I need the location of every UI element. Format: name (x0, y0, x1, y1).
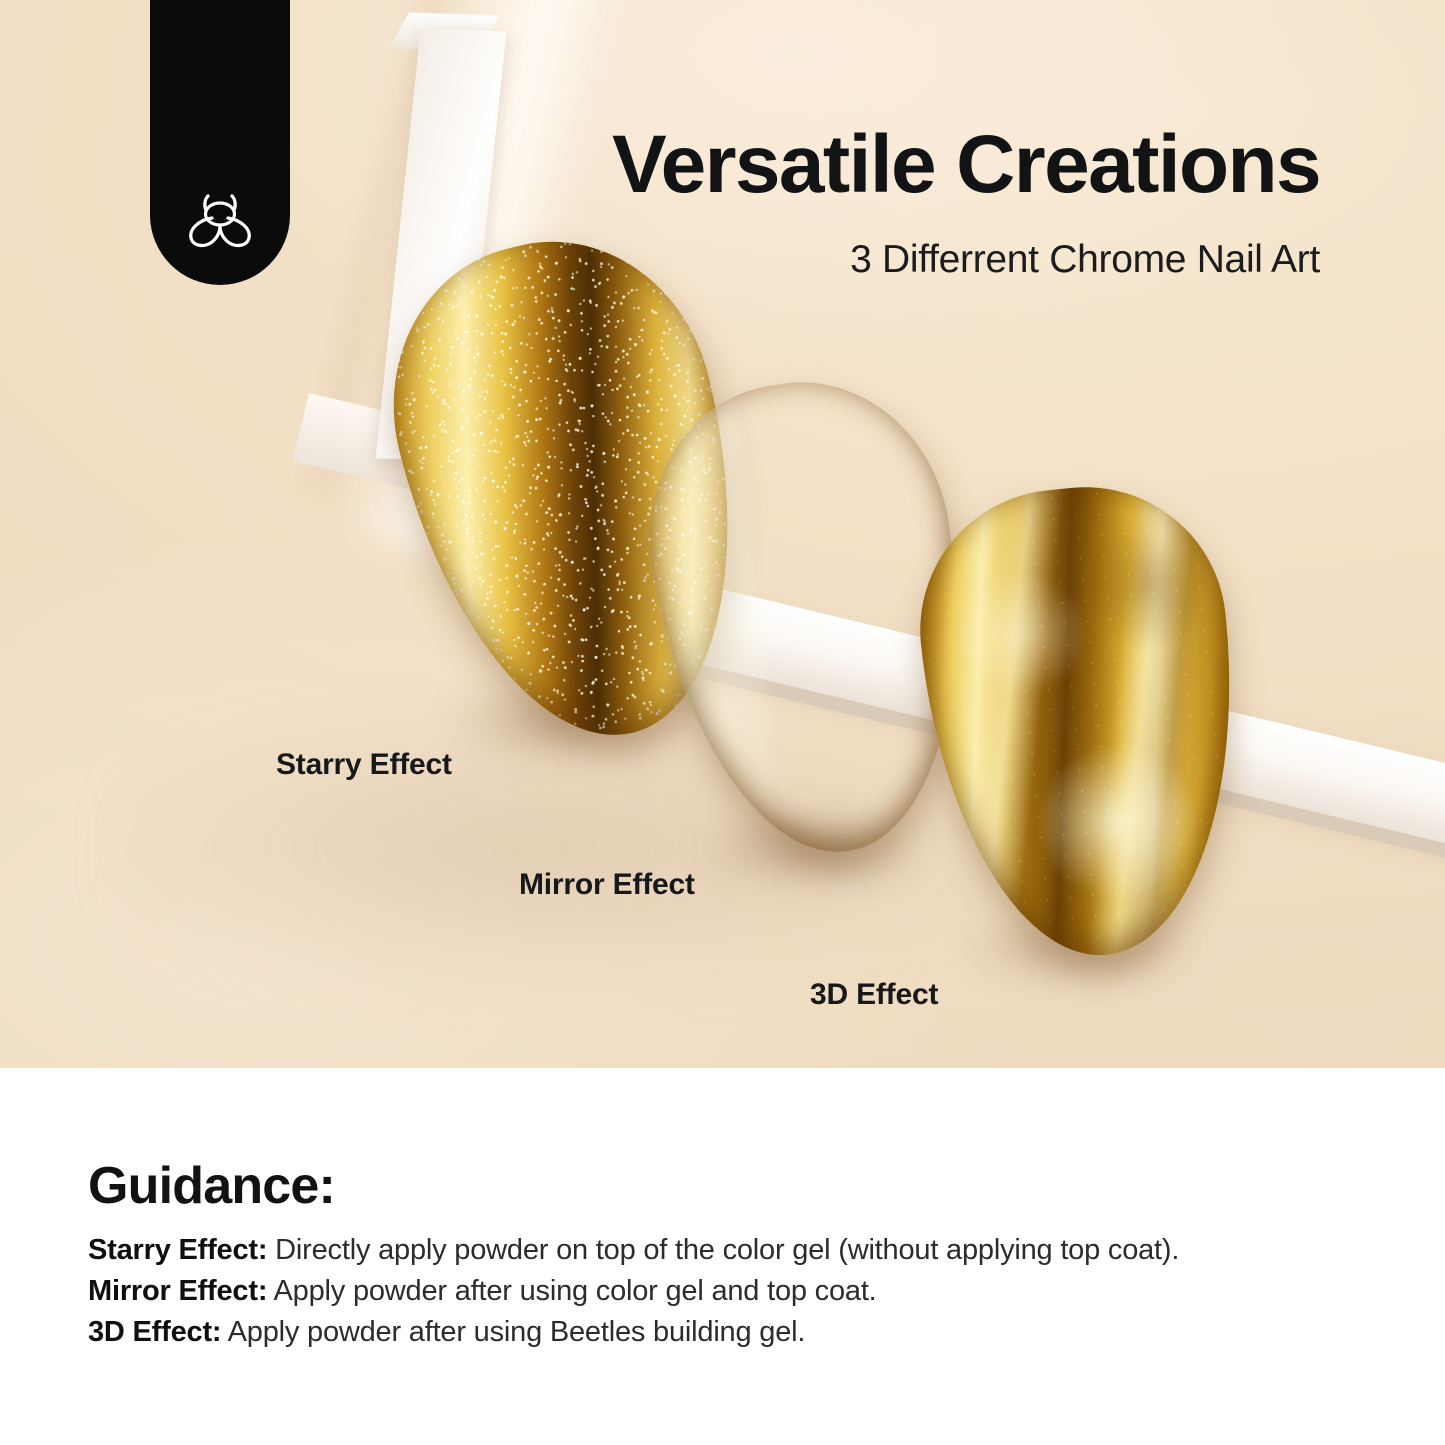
guidance-text-3d: Apply powder after using Beetles buildin… (221, 1316, 805, 1348)
caption-3d-effect: 3D Effect (810, 978, 938, 1012)
guidance-heading: Guidance: (88, 1156, 335, 1216)
guidance-term-mirror: Mirror Effect: (88, 1275, 267, 1307)
product-photo-panel: Versatile Creations 3 Differrent Chrome … (0, 0, 1445, 1068)
guidance-term-3d: 3D Effect: (88, 1316, 221, 1348)
guidance-item-mirror: Mirror Effect: Apply powder after using … (88, 1271, 1388, 1312)
page-title: Versatile Creations (430, 124, 1320, 206)
guidance-item-3d: 3D Effect: Apply powder after using Beet… (88, 1312, 1388, 1353)
nail-sample-3d (906, 473, 1259, 970)
guidance-term-starry: Starry Effect: (88, 1234, 267, 1266)
infographic-page: Versatile Creations 3 Differrent Chrome … (0, 0, 1445, 1445)
guidance-text-starry: Directly apply powder on top of the colo… (267, 1234, 1179, 1266)
brand-logo-tab (150, 0, 290, 285)
caption-starry-effect: Starry Effect (276, 748, 452, 782)
guidance-text-mirror: Apply powder after using color gel and t… (267, 1275, 876, 1307)
nail-3d-grain (906, 473, 1259, 970)
guidance-list: Starry Effect: Directly apply powder on … (88, 1230, 1388, 1354)
guidance-item-starry: Starry Effect: Directly apply powder on … (88, 1230, 1388, 1271)
page-subtitle: 3 Differrent Chrome Nail Art (430, 238, 1320, 282)
beetle-icon (183, 188, 257, 259)
guidance-section: Guidance: Starry Effect: Directly apply … (0, 1068, 1445, 1445)
caption-mirror-effect: Mirror Effect (519, 868, 695, 902)
